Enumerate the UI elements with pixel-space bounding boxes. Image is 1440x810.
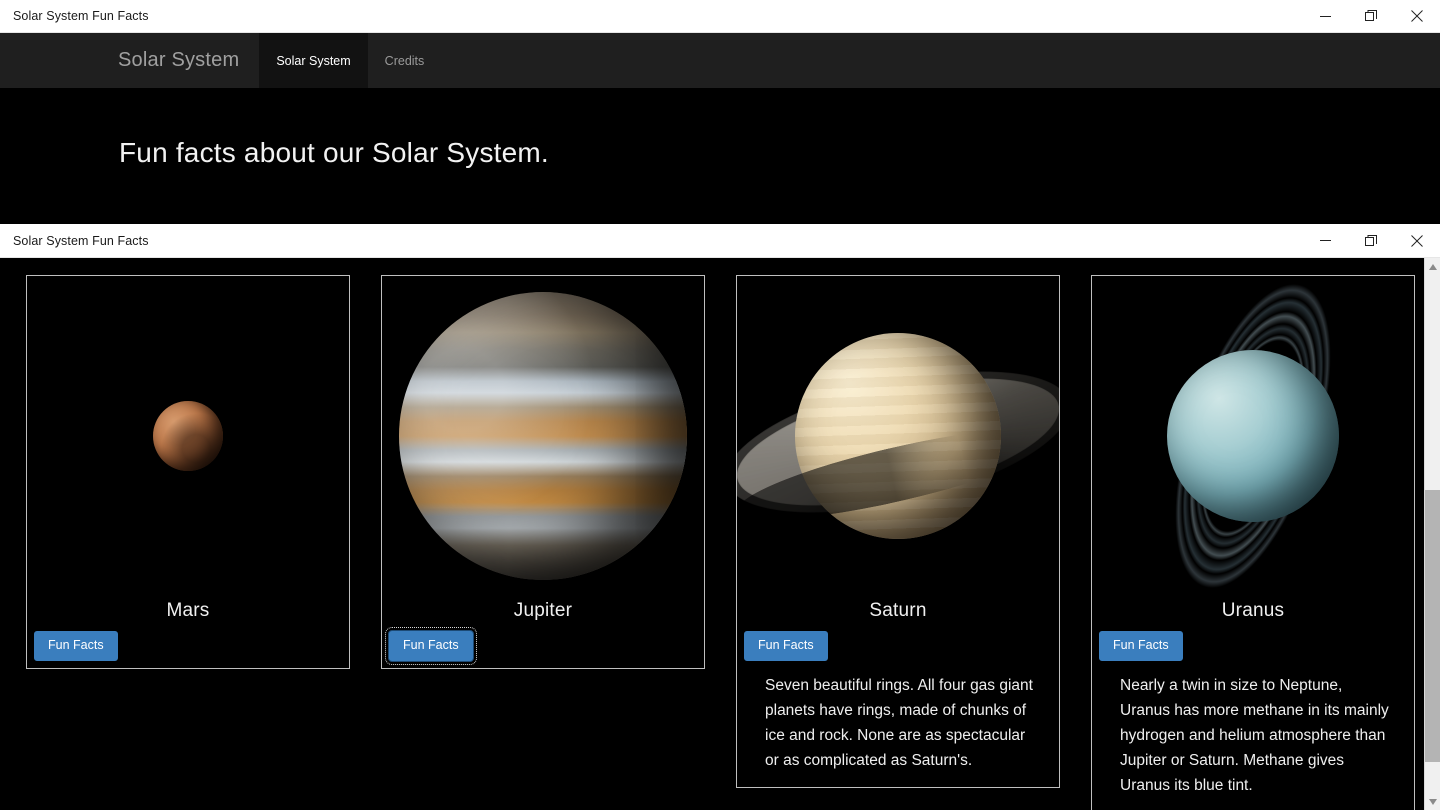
scrollbar-thumb[interactable] <box>1425 490 1440 762</box>
fun-facts-button-uranus[interactable]: Fun Facts <box>1099 631 1183 661</box>
jupiter-sphere-icon <box>399 292 687 580</box>
background-window-titlebar: Solar System Fun Facts <box>0 0 1440 33</box>
foreground-window: Solar System Fun Facts <box>0 224 1440 810</box>
scroll-down-arrow-icon[interactable] <box>1425 793 1440 810</box>
fun-facts-button-mars[interactable]: Fun Facts <box>34 631 118 661</box>
fun-facts-button-jupiter[interactable]: Fun Facts <box>389 631 473 661</box>
tab-solar-system[interactable]: Solar System <box>259 33 367 88</box>
tab-credits-label: Credits <box>385 54 425 68</box>
mars-image <box>27 276 349 596</box>
foreground-window-title: Solar System Fun Facts <box>0 234 149 248</box>
page-title: Fun facts about our Solar System. <box>0 137 549 169</box>
planet-card-jupiter[interactable]: Jupiter Fun Facts <box>381 275 705 669</box>
app-title: Solar System <box>0 33 259 88</box>
uranus-image <box>1092 276 1414 596</box>
foreground-window-titlebar: Solar System Fun Facts <box>0 224 1440 258</box>
uranus-sphere-icon <box>1092 276 1414 596</box>
planet-card-uranus[interactable]: Uranus Fun Facts Nearly a twin in size t… <box>1091 275 1415 810</box>
scroll-up-arrow-icon[interactable] <box>1425 258 1440 275</box>
close-button[interactable] <box>1394 224 1440 257</box>
background-window-title: Solar System Fun Facts <box>0 9 149 23</box>
jupiter-image <box>382 276 704 596</box>
fact-text-uranus: Nearly a twin in size to Neptune, Uranus… <box>1092 668 1414 810</box>
planet-cards-area: Mars Fun Facts Jupiter Fun Facts <box>0 258 1440 810</box>
mars-sphere-icon <box>153 401 223 471</box>
restore-button[interactable] <box>1348 224 1394 257</box>
saturn-image <box>737 276 1059 596</box>
foreground-window-controls <box>1302 224 1440 257</box>
planet-card-saturn[interactable]: Saturn Fun Facts Seven beautiful rings. … <box>736 275 1060 788</box>
app-navigation-bar: Solar System Solar System Credits <box>0 33 1440 88</box>
vertical-scrollbar[interactable] <box>1424 258 1440 810</box>
planet-name-saturn: Saturn <box>737 596 1059 631</box>
planet-card-rail: Mars Fun Facts Jupiter Fun Facts <box>0 258 1424 810</box>
planet-name-mars: Mars <box>27 596 349 631</box>
planet-name-jupiter: Jupiter <box>382 596 704 631</box>
minimize-button[interactable] <box>1302 224 1348 257</box>
uranus-body-icon <box>1167 350 1339 522</box>
fact-text-saturn: Seven beautiful rings. All four gas gian… <box>737 668 1059 787</box>
minimize-button[interactable] <box>1302 0 1348 32</box>
planet-card-mars[interactable]: Mars Fun Facts <box>26 275 350 669</box>
tab-solar-system-label: Solar System <box>276 54 350 68</box>
planet-name-uranus: Uranus <box>1092 596 1414 631</box>
background-window-controls <box>1302 0 1440 32</box>
fun-facts-button-saturn[interactable]: Fun Facts <box>744 631 828 661</box>
restore-button[interactable] <box>1348 0 1394 32</box>
close-button[interactable] <box>1394 0 1440 32</box>
saturn-sphere-icon <box>737 276 1059 596</box>
hero-section: Fun facts about our Solar System. <box>0 88 1440 218</box>
tab-credits[interactable]: Credits <box>368 33 442 88</box>
